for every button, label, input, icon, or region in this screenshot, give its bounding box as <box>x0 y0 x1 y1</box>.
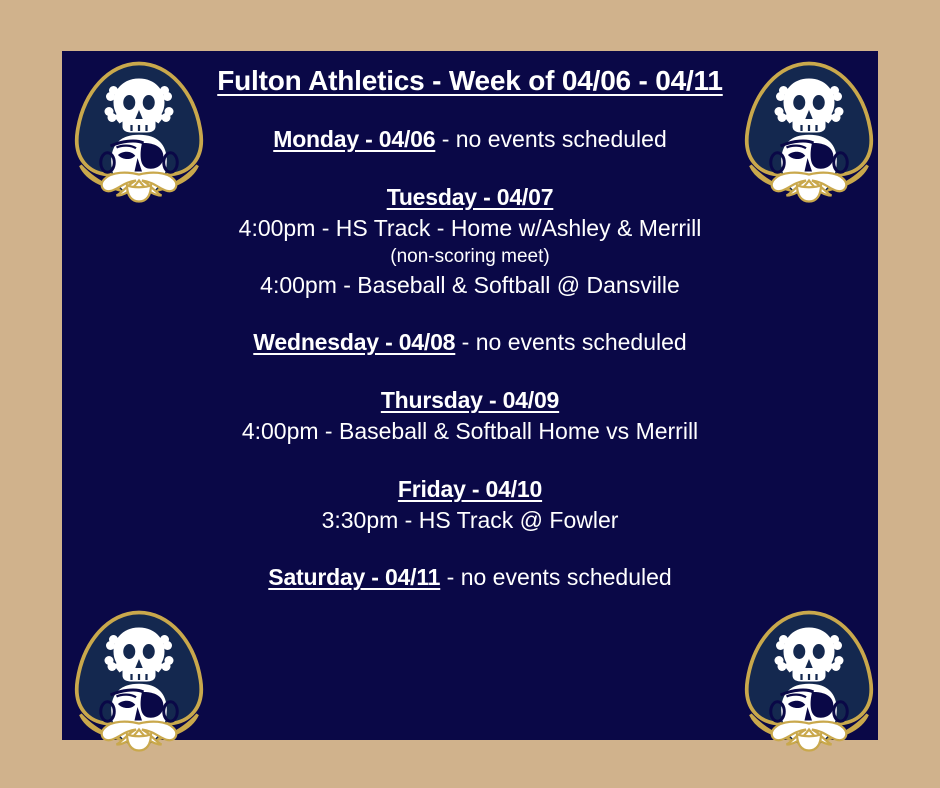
day-heading-monday: Monday - 04/06 <box>273 126 435 152</box>
day-heading-friday: Friday - 04/10 <box>62 473 878 505</box>
day-heading-saturday: Saturday - 04/11 <box>268 564 440 590</box>
event-line: (non-scoring meet) <box>62 244 878 270</box>
day-block-friday: Friday - 04/10 3:30pm - HS Track @ Fowle… <box>62 473 878 536</box>
day-note-saturday: - no events scheduled <box>440 564 671 590</box>
event-line: 4:00pm - HS Track - Home w/Ashley & Merr… <box>62 213 878 244</box>
pirate-logo-top-right <box>734 53 884 203</box>
pirate-logo-bottom-left <box>64 602 214 752</box>
day-block-thursday: Thursday - 04/09 4:00pm - Baseball & Sof… <box>62 384 878 447</box>
day-block-wednesday: Wednesday - 04/08 - no events scheduled <box>62 327 878 358</box>
pirate-logo-bottom-right <box>734 602 884 752</box>
day-note-wednesday: - no events scheduled <box>455 329 686 355</box>
day-heading-wednesday: Wednesday - 04/08 <box>253 329 455 355</box>
schedule-poster: Fulton Athletics - Week of 04/06 - 04/11… <box>62 51 878 740</box>
day-line-saturday: Saturday - 04/11 - no events scheduled <box>62 562 878 593</box>
day-block-saturday: Saturday - 04/11 - no events scheduled <box>62 562 878 593</box>
event-line: 3:30pm - HS Track @ Fowler <box>62 505 878 536</box>
day-line-wednesday: Wednesday - 04/08 - no events scheduled <box>62 327 878 358</box>
event-line: 4:00pm - Baseball & Softball @ Dansville <box>62 270 878 301</box>
event-line: 4:00pm - Baseball & Softball Home vs Mer… <box>62 416 878 447</box>
day-heading-thursday: Thursday - 04/09 <box>62 384 878 416</box>
day-note-monday: - no events scheduled <box>435 126 666 152</box>
pirate-logo-top-left <box>64 53 214 203</box>
